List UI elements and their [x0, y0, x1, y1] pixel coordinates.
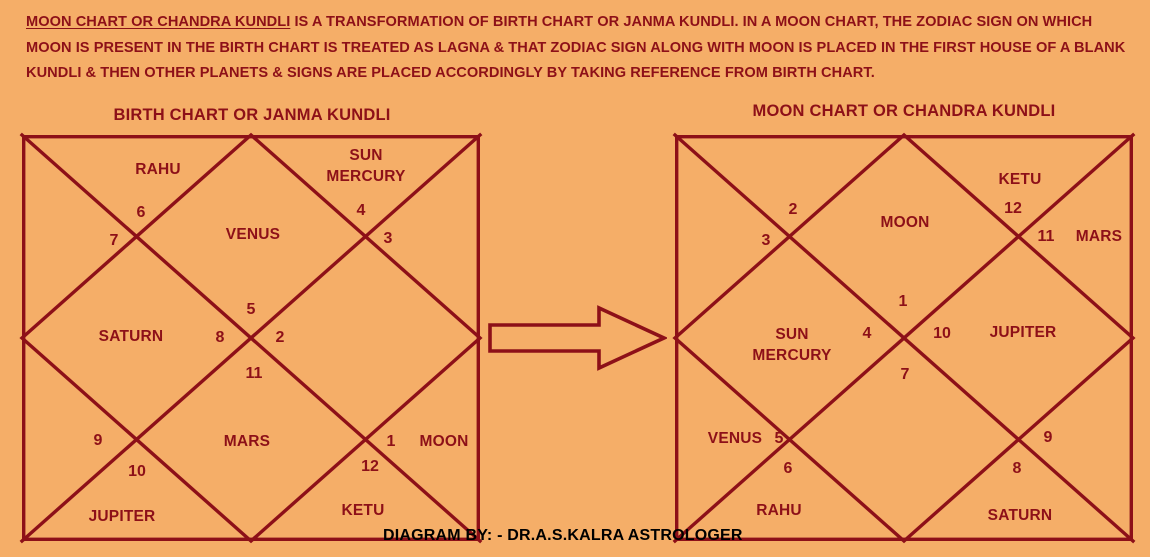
- birth-chart-title: BIRTH CHART OR JANMA KUNDLI: [22, 106, 482, 125]
- birth-house-number-11: 11: [246, 365, 263, 383]
- moon-house-number-9: 9: [1044, 429, 1053, 447]
- diagram-credit: DIAGRAM BY: - DR.A.S.KALRA ASTROLOGER: [383, 527, 743, 545]
- moon-label-mars: MARS: [1076, 228, 1122, 246]
- moon-house-number-1: 1: [899, 293, 908, 311]
- birth-house-number-5: 5: [247, 301, 256, 319]
- birth-house-number-9: 9: [94, 432, 103, 450]
- moon-label-mercury: MERCURY: [752, 347, 831, 364]
- moon-label-venus: VENUS: [708, 430, 762, 448]
- moon-house-number-10: 10: [933, 325, 951, 343]
- birth-house-number-12: 12: [361, 458, 379, 476]
- birth-label-sun: SUN: [349, 147, 382, 164]
- birth-house-number-4: 4: [357, 202, 366, 220]
- moon-house-number-6: 6: [784, 460, 793, 478]
- moon-label-moon: MOON: [880, 214, 929, 232]
- birth-label-saturn: SATURN: [99, 328, 164, 346]
- moon-house-number-3: 3: [762, 232, 771, 250]
- moon-house-number-4: 4: [863, 325, 872, 343]
- birth-house-number-1: 1: [387, 433, 396, 451]
- moon-label-saturn: SATURN: [988, 507, 1053, 525]
- birth-house-number-10: 10: [128, 463, 146, 481]
- moon-chart-title: MOON CHART OR CHANDRA KUNDLI: [675, 102, 1133, 121]
- birth-house-number-2: 2: [276, 329, 285, 347]
- birth-label-sun-mercury: SUNMERCURY: [326, 145, 405, 187]
- moon-label-sun: SUN: [775, 326, 808, 343]
- birth-kundli-lines: [22, 135, 480, 541]
- birth-label-ketu: KETU: [342, 502, 385, 520]
- birth-label-venus: VENUS: [226, 226, 280, 244]
- birth-label-moon: MOON: [419, 433, 468, 451]
- moon-kundli-lines: [675, 135, 1133, 541]
- birth-house-number-7: 7: [110, 232, 119, 250]
- diagram-canvas: MOON CHART OR CHANDRA KUNDLI IS A TRANSF…: [0, 0, 1150, 557]
- moon-house-number-11: 11: [1038, 228, 1055, 246]
- moon-label-sun-mercury: SUNMERCURY: [752, 324, 831, 366]
- birth-label-mercury: MERCURY: [326, 168, 405, 185]
- moon-chart-kundli: KETU MOON MARS SUNMERCURY JUPITER VENUS …: [675, 135, 1133, 541]
- birth-label-mars: MARS: [224, 433, 270, 451]
- intro-paragraph: MOON CHART OR CHANDRA KUNDLI IS A TRANSF…: [26, 10, 1132, 87]
- moon-label-rahu: RAHU: [756, 502, 802, 520]
- birth-label-rahu: RAHU: [135, 161, 181, 179]
- moon-house-number-2: 2: [789, 201, 798, 219]
- birth-chart-kundli: RAHU SUNMERCURY VENUS SATURN MARS MOON J…: [22, 135, 480, 541]
- birth-house-number-8: 8: [216, 329, 225, 347]
- transformation-arrow: [487, 305, 667, 371]
- moon-house-number-12: 12: [1004, 200, 1022, 218]
- moon-house-number-8: 8: [1013, 460, 1022, 478]
- moon-label-jupiter: JUPITER: [990, 324, 1057, 342]
- moon-label-ketu: KETU: [999, 171, 1042, 189]
- birth-house-number-3: 3: [384, 230, 393, 248]
- birth-house-number-6: 6: [137, 204, 146, 222]
- moon-house-number-7: 7: [901, 366, 910, 384]
- birth-label-jupiter: JUPITER: [89, 508, 156, 526]
- moon-house-number-5: 5: [775, 430, 784, 448]
- transformation-arrow-icon: [487, 305, 667, 371]
- intro-lead-term: MOON CHART OR CHANDRA KUNDLI: [26, 14, 290, 30]
